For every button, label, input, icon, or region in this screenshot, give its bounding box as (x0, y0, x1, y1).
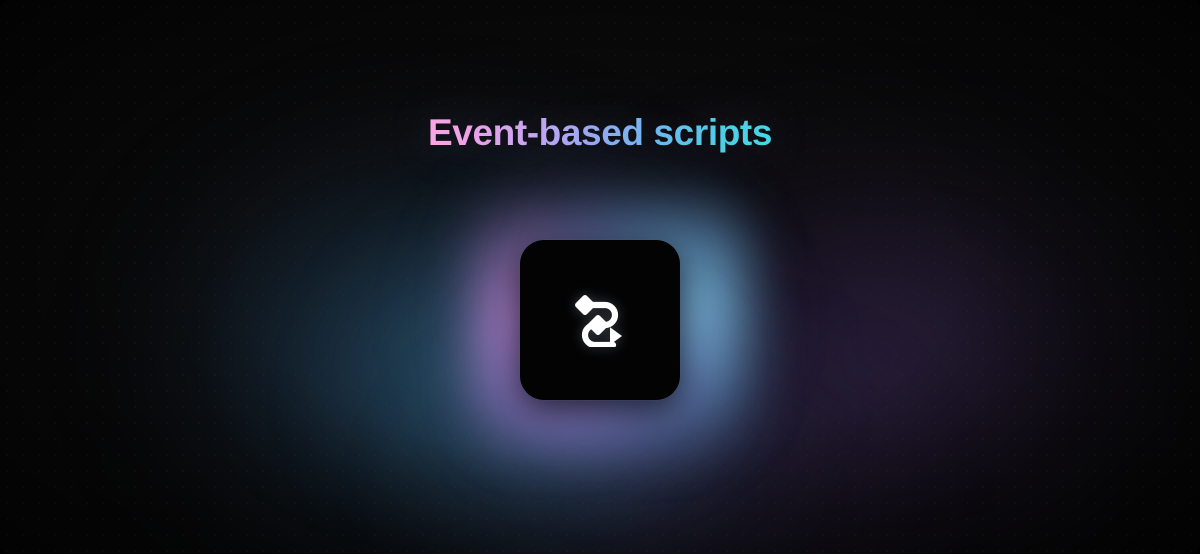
workflow-route-icon (572, 293, 628, 347)
event-based-scripts-tile[interactable] (520, 240, 680, 400)
page-title-container: Event-based scripts (0, 110, 1200, 156)
hero-banner: Event-based scripts (0, 0, 1200, 554)
icon-card-stage (520, 240, 680, 400)
ambient-glow-purple-right (600, 155, 1160, 554)
page-title: Event-based scripts (428, 110, 772, 156)
